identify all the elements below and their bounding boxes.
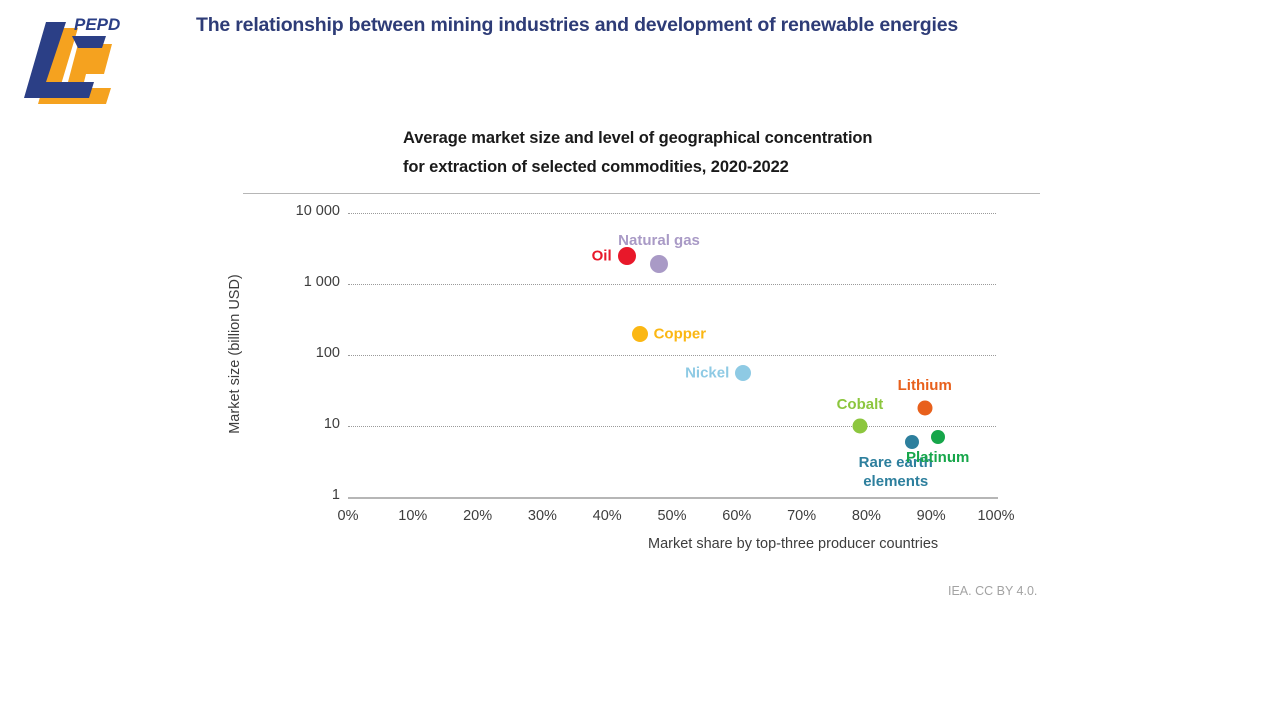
data-point-label: Lithium	[898, 376, 952, 395]
data-point[interactable]	[905, 435, 919, 449]
x-axis-tick-label: 50%	[657, 508, 686, 524]
x-axis-tick-label: 0%	[338, 508, 359, 524]
x-axis-tick-label: 20%	[463, 508, 492, 524]
page-title: The relationship between mining industri…	[196, 12, 1196, 38]
x-axis-tick-label: 100%	[977, 508, 1014, 524]
gridline	[348, 355, 996, 356]
gridline	[348, 426, 996, 427]
data-point[interactable]	[735, 365, 751, 381]
data-point[interactable]	[931, 430, 945, 444]
x-axis-tick-label: 30%	[528, 508, 557, 524]
x-axis-tick-label: 70%	[787, 508, 816, 524]
x-axis-tick-label: 40%	[593, 508, 622, 524]
data-point-label: Cobalt	[837, 395, 884, 414]
logo-wordmark: PEPD	[74, 15, 120, 34]
pepd-logo-mark: PEPD	[16, 8, 128, 108]
data-point-label: Natural gas	[618, 231, 700, 250]
data-point[interactable]	[632, 326, 648, 342]
y-axis-title: Market size (billion USD)	[227, 274, 243, 434]
x-axis-title: Market share by top-three producer count…	[648, 536, 938, 552]
chart-figure: Average market size and level of geograp…	[243, 124, 1043, 614]
data-point[interactable]	[852, 419, 867, 434]
attribution-text: IEA. CC BY 4.0.	[948, 584, 1037, 598]
slide-header: PEPD The relationship between mining ind…	[0, 0, 1280, 115]
data-point-label: Copper	[654, 324, 707, 343]
x-axis-line	[348, 497, 998, 499]
data-point-label: Nickel	[685, 364, 729, 383]
scatter-plot: Market size (billion USD) Market share b…	[243, 124, 1043, 614]
data-point-label: Platinum	[906, 448, 969, 467]
x-axis-tick-label: 10%	[398, 508, 427, 524]
pepd-logo: PEPD	[16, 8, 128, 108]
x-axis-tick-label: 80%	[852, 508, 881, 524]
gridline	[348, 213, 996, 214]
x-axis-tick-label: 90%	[917, 508, 946, 524]
data-point[interactable]	[650, 255, 668, 273]
data-point[interactable]	[917, 400, 932, 415]
x-axis-tick-label: 60%	[722, 508, 751, 524]
data-point-label: Oil	[592, 246, 612, 265]
gridline	[348, 284, 996, 285]
